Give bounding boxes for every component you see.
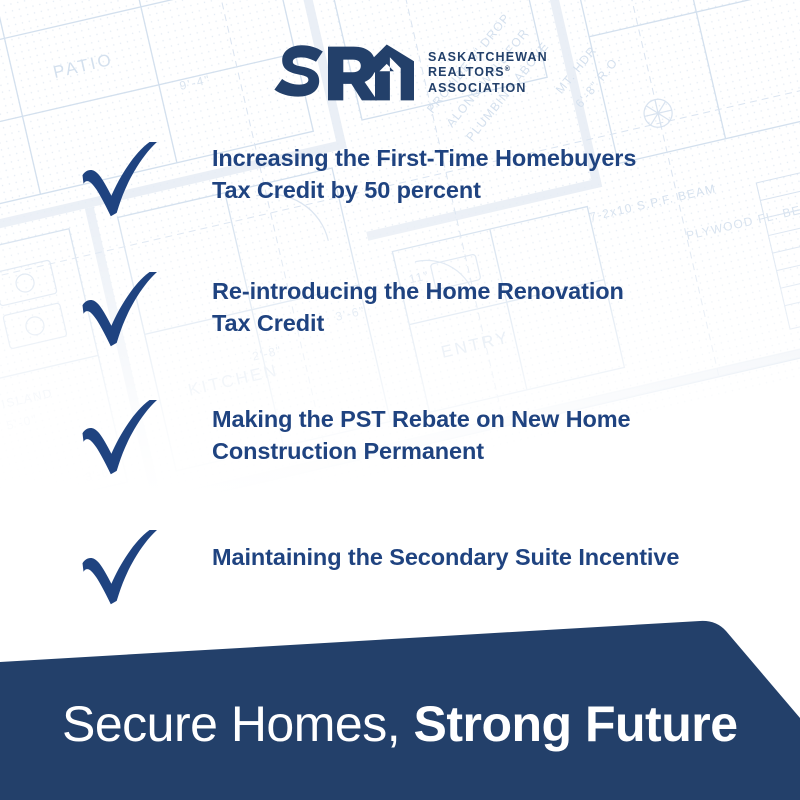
checklist-item: Increasing the First-Time Homebuyers Tax… bbox=[78, 142, 778, 220]
checkmark-icon bbox=[78, 400, 170, 478]
svg-text:PATIO: PATIO bbox=[51, 50, 115, 82]
checklist-item-text: Making the PST Rebate on New Home Constr… bbox=[170, 400, 778, 468]
checklist-item-line1: Increasing the First-Time Homebuyers bbox=[212, 142, 778, 174]
registered-trademark-icon: ® bbox=[505, 66, 510, 73]
checklist-item: Making the PST Rebate on New Home Constr… bbox=[78, 400, 778, 478]
checklist-item: Maintaining the Secondary Suite Incentiv… bbox=[78, 530, 778, 608]
checklist-item-text: Re-introducing the Home Renovation Tax C… bbox=[170, 272, 778, 340]
logo-line-saskatchewan: SASKATCHEWAN bbox=[428, 51, 548, 65]
tagline-banner: Secure Homes, Strong Future bbox=[0, 600, 800, 800]
tagline-bold: Strong Future bbox=[414, 696, 738, 752]
tagline-text: Secure Homes, Strong Future bbox=[0, 600, 800, 800]
tagline-light: Secure Homes, bbox=[62, 696, 400, 752]
checklist-item-line2: Construction Permanent bbox=[212, 435, 778, 467]
checklist-item-text: Maintaining the Secondary Suite Incentiv… bbox=[170, 530, 778, 573]
tagline: Secure Homes, Strong Future bbox=[62, 699, 738, 749]
svg-text:5'-0": 5'-0" bbox=[5, 412, 39, 433]
sra-logo-mark bbox=[266, 38, 414, 107]
checklist-item-line1: Making the PST Rebate on New Home bbox=[212, 403, 778, 435]
checklist-item-text: Increasing the First-Time Homebuyers Tax… bbox=[170, 142, 778, 207]
logo-line-association: ASSOCIATION bbox=[428, 82, 548, 96]
logo-line-realtors: REALTORS® bbox=[428, 66, 548, 80]
checklist-item-line2: Tax Credit by 50 percent bbox=[212, 174, 778, 206]
svg-text:KITCHEN: KITCHEN bbox=[186, 361, 280, 400]
svg-text:6'-8" R.O.: 6'-8" R.O. bbox=[572, 52, 623, 110]
checklist-item-line1: Maintaining the Secondary Suite Incentiv… bbox=[212, 541, 778, 573]
sra-logo: SASKATCHEWAN REALTORS® ASSOCIATION bbox=[266, 40, 548, 104]
checkmark-icon bbox=[78, 272, 170, 350]
svg-text:ISLAND: ISLAND bbox=[0, 386, 54, 411]
sra-logo-wordmark: SASKATCHEWAN REALTORS® ASSOCIATION bbox=[428, 49, 548, 96]
checkmark-icon bbox=[78, 530, 170, 608]
checkmark-icon bbox=[78, 142, 170, 220]
svg-text:MT. HDR: MT. HDR bbox=[553, 43, 600, 96]
checklist-item-line1: Re-introducing the Home Renovation bbox=[212, 275, 778, 307]
svg-text:9'-4": 9'-4" bbox=[178, 72, 212, 93]
poster-canvas: 15'-0 1/2" 9'-4" 6'-8" 12'-0" 16'-0" 9'-… bbox=[0, 0, 800, 800]
checklist-item-line2: Tax Credit bbox=[212, 307, 778, 339]
checklist-item: Re-introducing the Home Renovation Tax C… bbox=[78, 272, 778, 350]
